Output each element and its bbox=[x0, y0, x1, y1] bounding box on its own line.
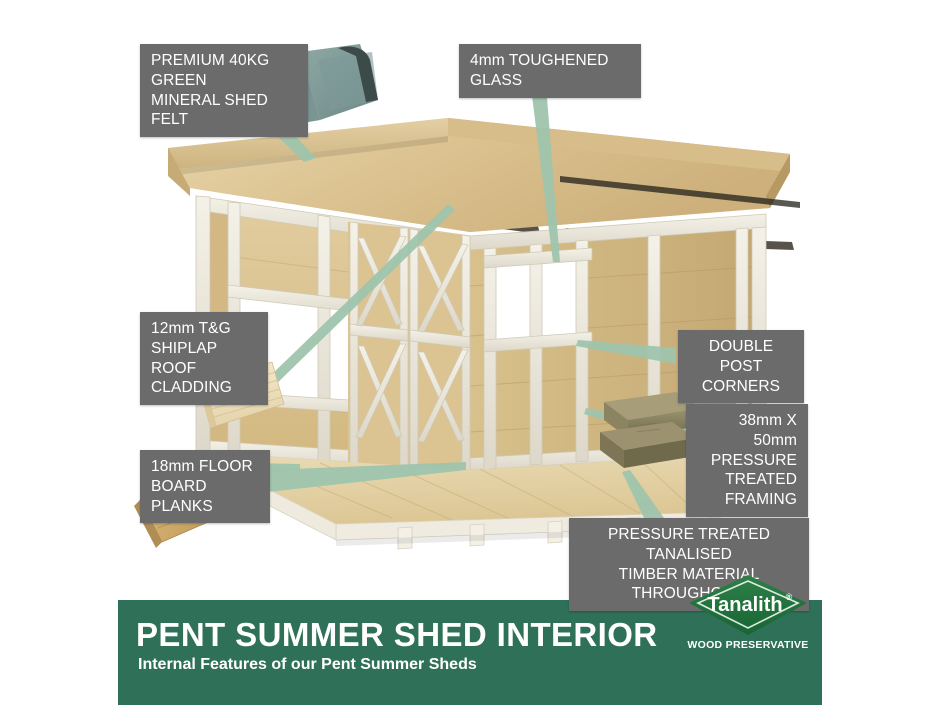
callout-line: 4mm TOUGHENED GLASS bbox=[470, 51, 630, 91]
callout-line: TREATED FRAMING bbox=[697, 470, 797, 510]
callout-line: MINERAL SHED FELT bbox=[151, 91, 297, 131]
callout-shiplap-cladding[interactable]: 12mm T&G SHIPLAP ROOF CLADDING bbox=[140, 312, 268, 405]
callout-floor-boards[interactable]: 18mm FLOOR BOARD PLANKS bbox=[140, 450, 270, 523]
callout-line: CLADDING bbox=[151, 378, 257, 398]
callout-pressure-treated-framing[interactable]: 38mm X 50mm PRESSURE TREATED FRAMING bbox=[686, 404, 808, 517]
callout-line: 38mm X 50mm bbox=[697, 411, 797, 451]
callout-double-post-corners[interactable]: DOUBLE POST CORNERS bbox=[678, 330, 804, 403]
callout-line: 12mm T&G bbox=[151, 319, 257, 339]
logo-caption: WOOD PRESERVATIVE bbox=[683, 639, 813, 651]
callout-line: PRESSURE TREATED TANALISED bbox=[580, 525, 798, 565]
double-doors bbox=[348, 222, 470, 470]
callout-line: BOARD PLANKS bbox=[151, 477, 259, 517]
callout-line: 18mm FLOOR bbox=[151, 457, 259, 477]
callout-line: PREMIUM 40KG GREEN bbox=[151, 51, 297, 91]
callout-line: DOUBLE POST bbox=[689, 337, 793, 377]
callout-line: SHIPLAP ROOF bbox=[151, 339, 257, 379]
callout-toughened-glass[interactable]: 4mm TOUGHENED GLASS bbox=[459, 44, 641, 98]
page-title: PENT SUMMER SHED INTERIOR bbox=[136, 616, 658, 654]
callout-line: PRESSURE bbox=[697, 451, 797, 471]
callout-line: CORNERS bbox=[689, 377, 793, 397]
logo-brand-text: Tanalith bbox=[707, 594, 782, 616]
logo-registered-mark: ® bbox=[786, 592, 793, 602]
page-subtitle: Internal Features of our Pent Summer She… bbox=[138, 656, 477, 674]
infographic-canvas: PREMIUM 40KG GREEN MINERAL SHED FELT 4mm… bbox=[0, 0, 940, 705]
callout-roof-felt[interactable]: PREMIUM 40KG GREEN MINERAL SHED FELT bbox=[140, 44, 308, 137]
